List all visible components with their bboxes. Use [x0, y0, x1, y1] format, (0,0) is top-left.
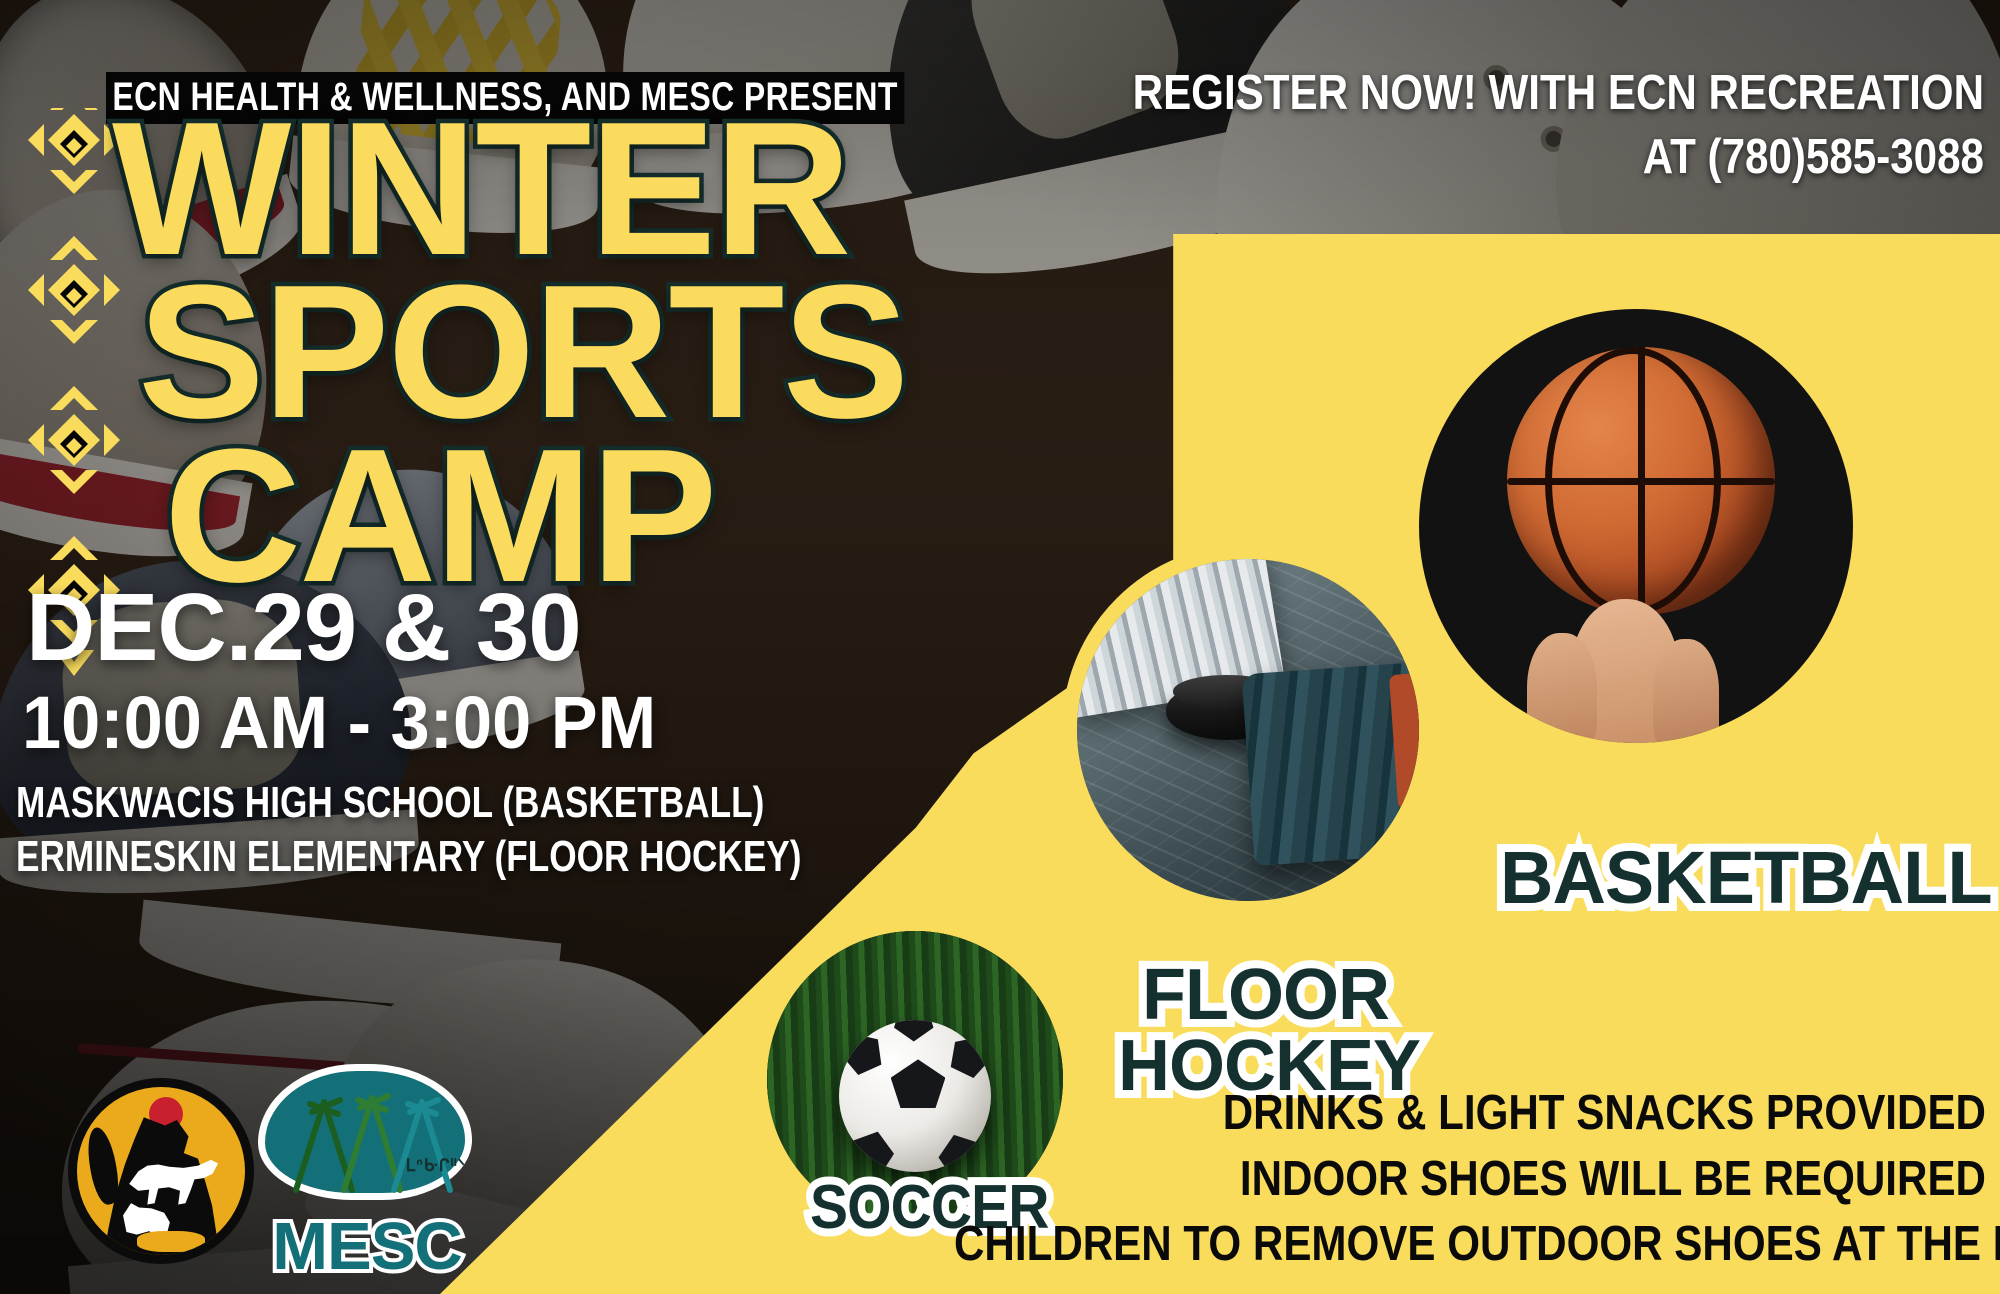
note-indoor-shoes: INDOOR SHOES WILL BE REQUIRED [954, 1147, 1986, 1213]
hockey-glove-icon [1242, 662, 1433, 865]
feather-icon [84, 1126, 123, 1207]
basketball-photo-circle [1404, 294, 1868, 758]
paw-accent-icon [137, 1231, 204, 1251]
event-venues: MASKWACIS HIGH SCHOOL (BASKETBALL) ERMIN… [16, 776, 998, 883]
registration-info: REGISTER NOW! WITH ECN RECREATION AT (78… [844, 62, 1984, 189]
mesc-wordmark: MESC [252, 1213, 482, 1280]
note-drinks-snacks: DRINKS & LIGHT SNACKS PROVIDED [954, 1081, 1986, 1147]
label-basketball: BASKETBALL [1500, 842, 1992, 915]
basketball-icon [1507, 347, 1775, 615]
event-time: 10:00 AM - 3:00 PM [22, 686, 656, 760]
register-phone-line: AT (780)585-3088 [1004, 126, 1984, 190]
label-floor-hockey: FLOOR HOCKEY [1142, 960, 1420, 1101]
event-notes: DRINKS & LIGHT SNACKS PROVIDED INDOOR SH… [786, 1081, 1986, 1278]
page-title: WINTER SPORTS CAMP [112, 108, 1012, 598]
finger-spinning-ball [1571, 599, 1679, 749]
winter-sports-camp-poster: ECN HEALTH & WELLNESS, AND MESC PRESENT … [0, 0, 2000, 1294]
label-floor-hockey-line1: FLOOR [1142, 960, 1420, 1031]
venue-floor-hockey: ERMINESKIN ELEMENTARY (FLOOR HOCKEY) [16, 830, 802, 884]
floor-hockey-photo-circle [1062, 544, 1434, 916]
venue-basketball: MASKWACIS HIGH SCHOOL (BASKETBALL) [16, 776, 802, 830]
register-line-1: REGISTER NOW! WITH ECN RECREATION [1004, 62, 1984, 126]
ecn-logo [68, 1078, 254, 1264]
mesc-syllabics: ᒪᐢᑿᒋᐦᐠ [406, 1156, 466, 1176]
mesc-logo: ᒪᐢᑿᒋᐦᐠ MESC [252, 1060, 482, 1276]
event-dates: DEC.29 & 30 [26, 580, 581, 676]
note-remove-outdoor: CHILDREN TO REMOVE OUTDOOR SHOES AT THE … [954, 1212, 1986, 1278]
